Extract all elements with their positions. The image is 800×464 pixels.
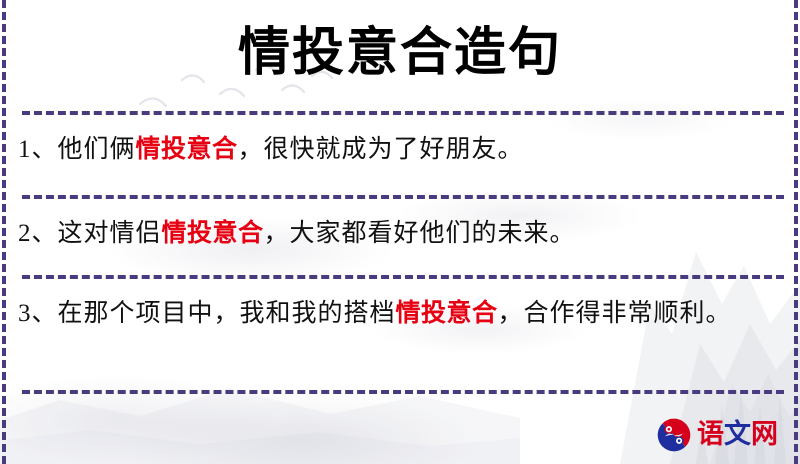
example-sentence-2: 2、这对情侣情投意合，大家都看好他们的未来。 — [18, 212, 774, 256]
sentence-3-before: 在那个项目中，我和我的搭档 — [58, 300, 396, 327]
sentence-3-after: ，合作得非常顺利。 — [498, 300, 732, 327]
sentence-1-after: ，很快就成为了好朋友。 — [238, 136, 524, 163]
divider-rule-1 — [22, 111, 784, 115]
sentence-1-before: 他们俩 — [58, 136, 136, 163]
logo-text-char-2: 文 — [724, 419, 751, 450]
logo-text: 语文网 — [697, 420, 778, 450]
site-logo: 语文网 — [657, 418, 778, 452]
yinyang-circle-icon — [657, 418, 691, 452]
divider-rule-3 — [22, 275, 784, 279]
example-sentence-1: 1、他们俩情投意合，很快就成为了好朋友。 — [18, 128, 774, 172]
sentence-2-keyword: 情投意合 — [162, 220, 264, 247]
distant-hills-watermark-icon — [0, 344, 520, 464]
sentence-3-number: 3、 — [18, 300, 58, 327]
sentence-2-after: ，大家都看好他们的未来。 — [264, 220, 576, 247]
sentence-1-number: 1、 — [18, 136, 58, 163]
example-sentence-3: 3、在那个项目中，我和我的搭档情投意合，合作得非常顺利。 — [18, 292, 774, 336]
sentence-2-number: 2、 — [18, 220, 58, 247]
page-title: 情投意合造句 — [0, 22, 800, 84]
right-dashed-border — [794, 0, 798, 464]
divider-rule-4 — [22, 390, 784, 394]
sentence-1-keyword: 情投意合 — [136, 136, 238, 163]
left-dashed-border — [2, 0, 6, 464]
divider-rule-2 — [22, 195, 784, 199]
sentence-3-keyword: 情投意合 — [396, 300, 498, 327]
sentence-2-before: 这对情侣 — [58, 220, 162, 247]
logo-text-char-3: 网 — [751, 419, 778, 450]
logo-text-char-1: 语 — [697, 419, 724, 450]
page-root: 情投意合造句 1、他们俩情投意合，很快就成为了好朋友。 2、这对情侣情投意合，大… — [0, 0, 800, 464]
